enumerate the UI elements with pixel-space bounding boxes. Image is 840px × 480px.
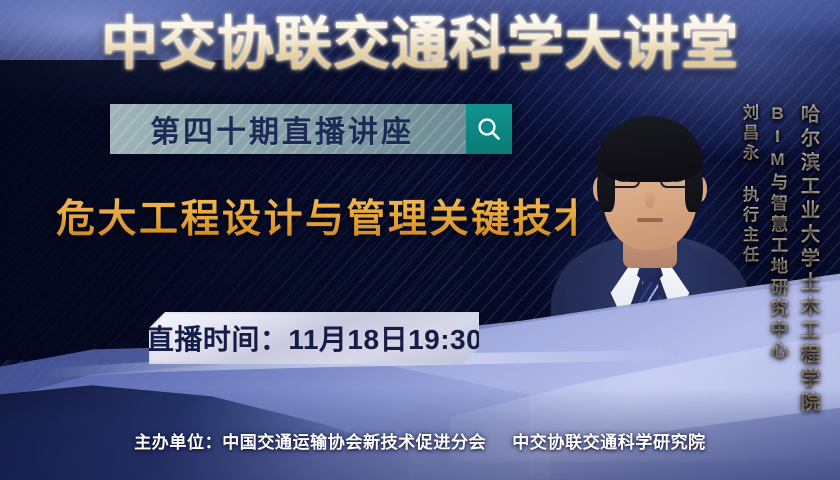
main-title-layer: 中交协联交通科学大讲堂 中交协联交通科学大讲堂 — [0, 0, 840, 90]
speaker-organization: 哈尔滨工业大学土木工程学院 — [795, 104, 822, 416]
page-title: 中交协联交通科学大讲堂 — [0, 14, 840, 76]
footer-organizer-2: 中交协联交通科学研究院 — [512, 433, 706, 452]
footer-organizer-1: 中国交通运输协会新技术促进分会 — [222, 433, 486, 452]
episode-bar-body: 第四十期直播讲座 — [110, 104, 466, 154]
broadcast-time-badge: 直播时间：11月18日19:30 — [149, 312, 479, 364]
broadcast-time-label: 直播时间：11月18日19:30 — [146, 318, 482, 358]
mouth — [637, 218, 663, 222]
footer-organizers: 主办单位：中国交通运输协会新技术促进分会中交协联交通科学研究院 — [0, 428, 840, 453]
live-lecture-poster: 中交协联交通科学大讲堂 中交协联交通科学大讲堂 第四十期直播讲座 危大工程设计与… — [0, 0, 840, 480]
speaker-role: 执行主任 — [736, 186, 760, 266]
speaker-center: BIM与智慧工地研究中心 — [765, 104, 790, 362]
footer-prefix: 主办单位： — [134, 433, 222, 452]
lecture-topic-title: 危大工程设计与管理关键技术 — [56, 188, 576, 244]
episode-bar: 第四十期直播讲座 — [110, 104, 512, 154]
speaker-portrait — [557, 88, 743, 418]
speaker-name: 刘昌永 — [736, 104, 760, 164]
episode-label: 第四十期直播讲座 — [150, 107, 466, 151]
nose — [645, 190, 655, 208]
search-icon[interactable] — [466, 104, 512, 154]
